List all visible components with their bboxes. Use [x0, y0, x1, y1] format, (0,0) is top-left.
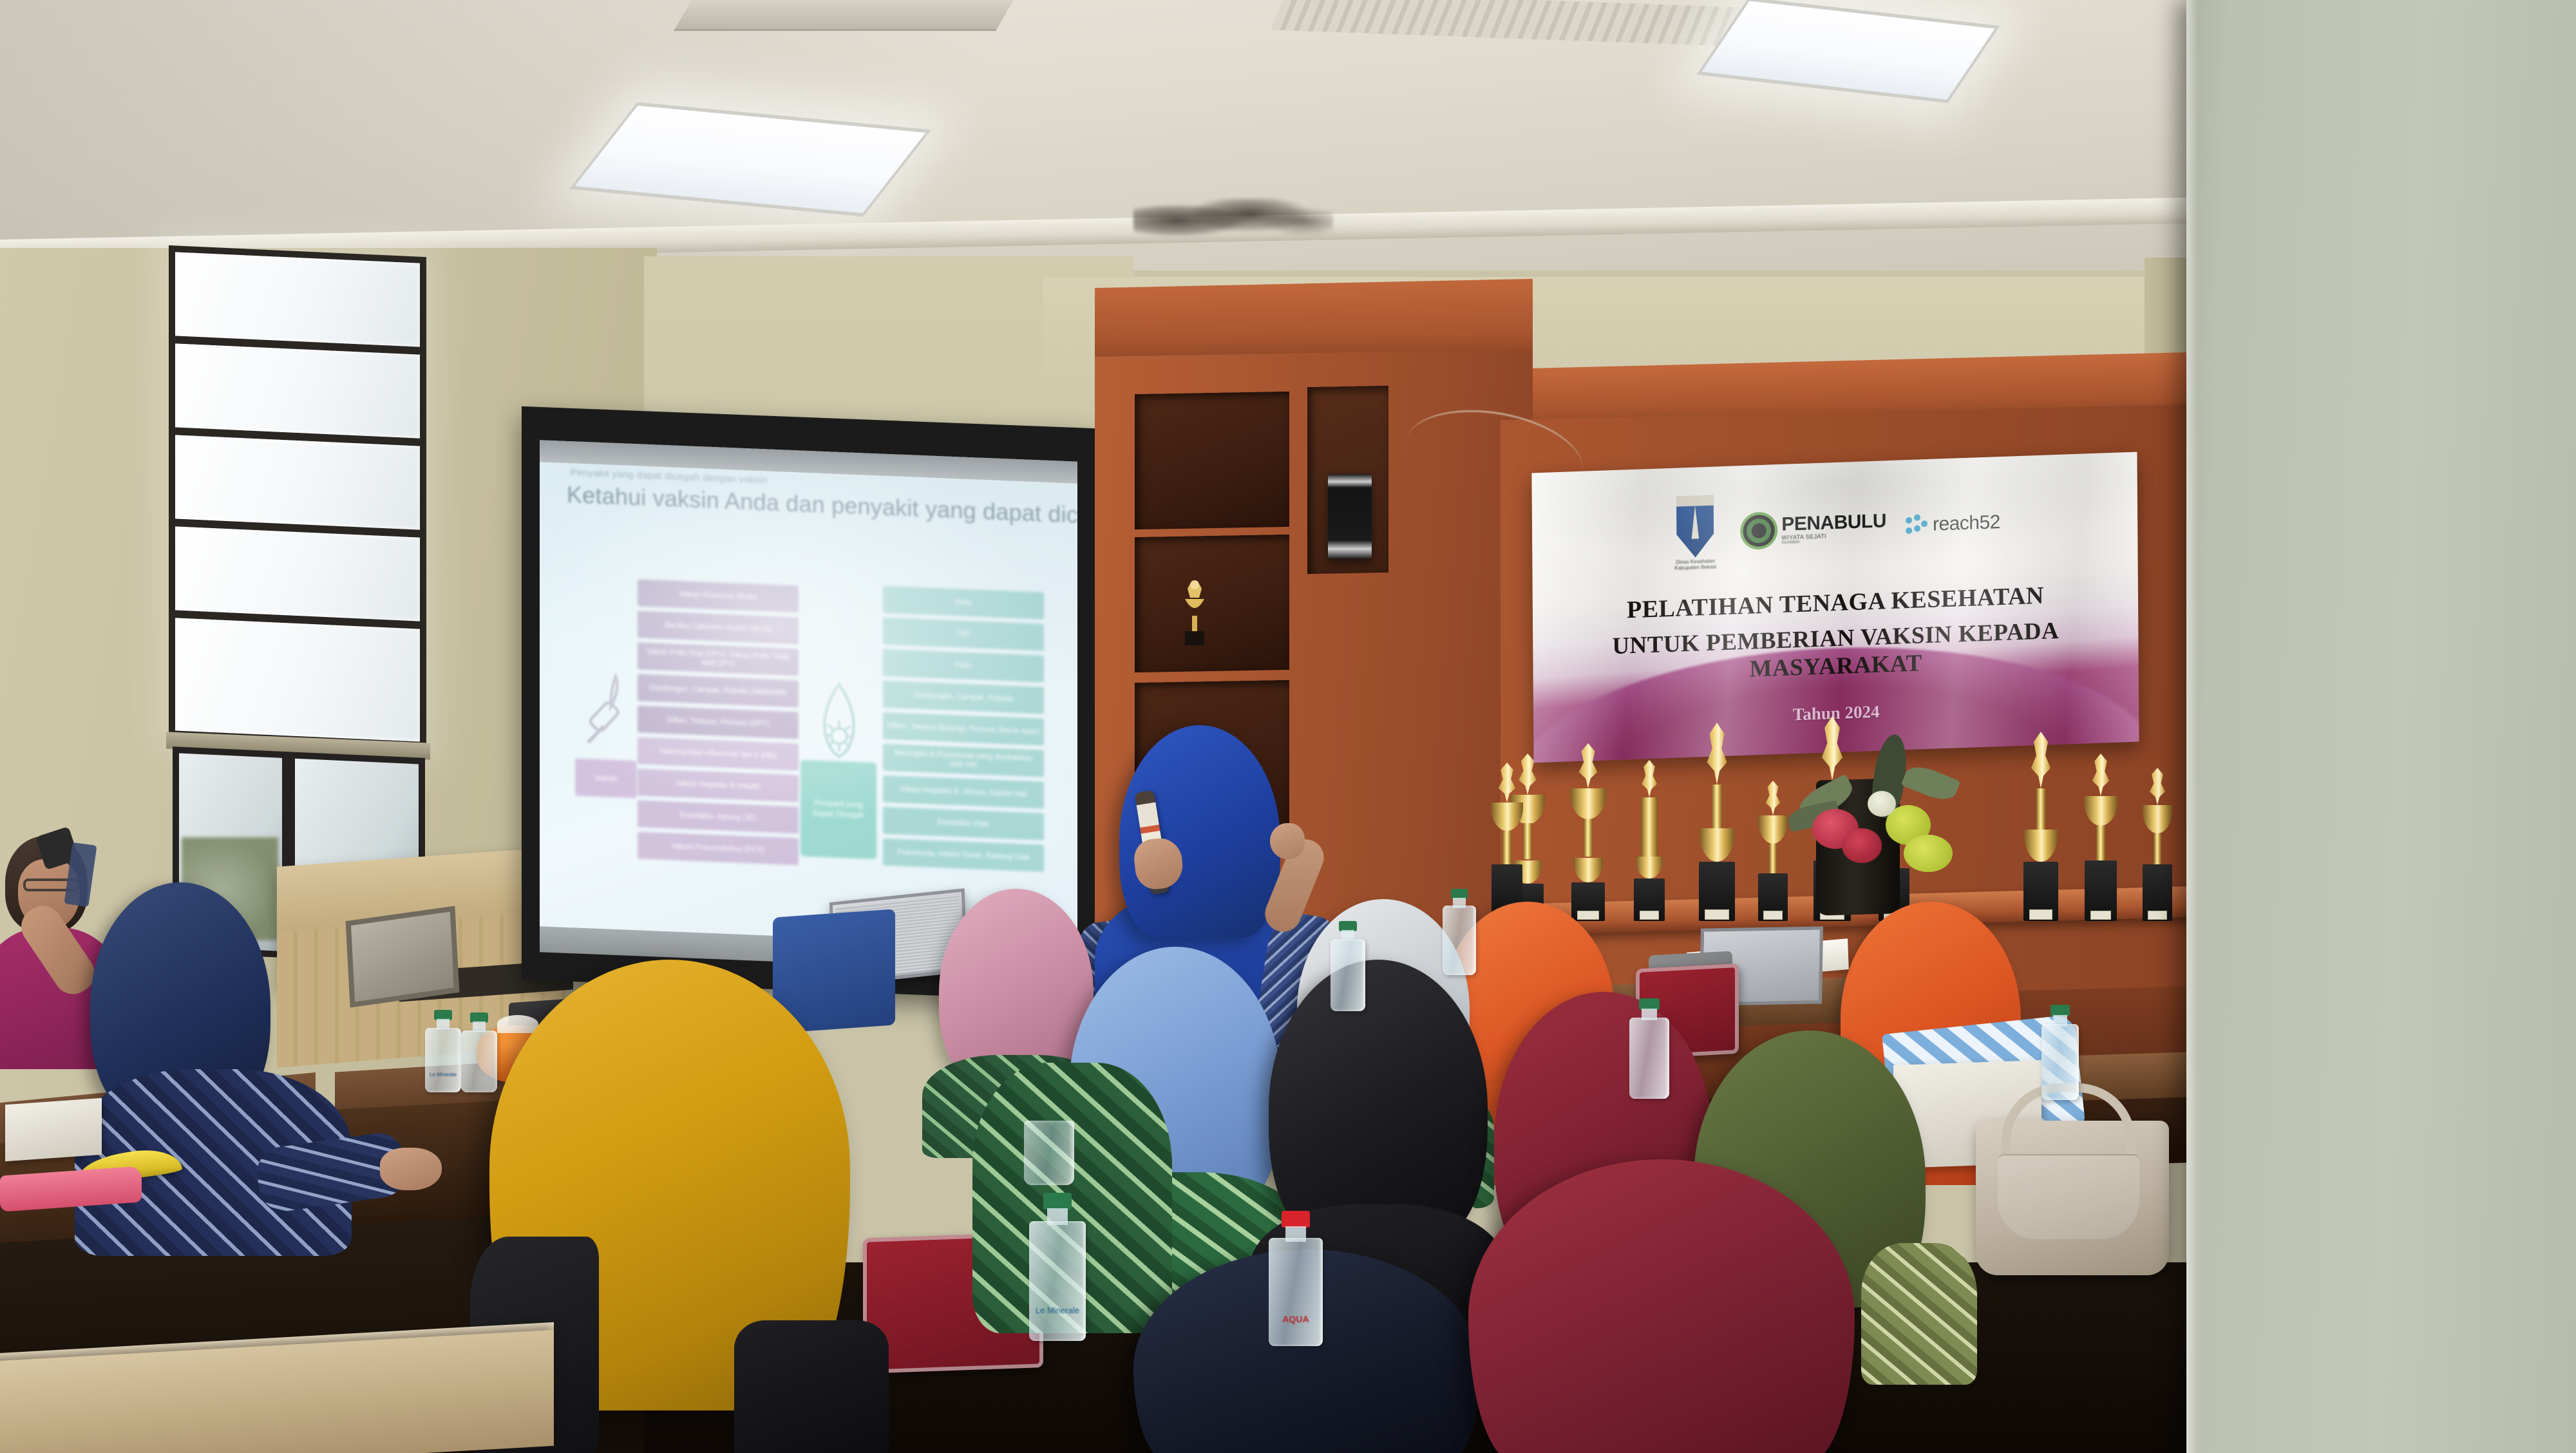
- garment-dark: [734, 1320, 889, 1453]
- hand: [380, 1148, 442, 1190]
- hijab: [1468, 1159, 1855, 1453]
- slide-disease-row: Difteri, Tetanus (kejang), Pertusis (bat…: [883, 712, 1044, 746]
- photograph-scene: Penyakit yang dapat dicegah dengan vaksi…: [0, 0, 2576, 1453]
- ceiling-water-stain-mold: [1133, 198, 1333, 238]
- ceiling-vent-left: [674, 0, 1014, 31]
- reach52-dots-icon: [1906, 514, 1927, 537]
- water-bottle[interactable]: [1331, 921, 1365, 1011]
- penabulu-mark-icon: [1740, 511, 1777, 550]
- slide-disease-row: Polio: [883, 649, 1044, 683]
- small-gold-trophy: [1177, 569, 1212, 653]
- slide-column-label-disease: Penyakit yang Dapat Dicegah: [800, 759, 876, 859]
- slide-disease-row: Ensefalitis Otak: [883, 807, 1044, 840]
- slide-vaccine-column: Vaksin Rotavirus (Rota) Bacillus Calmett…: [638, 579, 799, 865]
- reach52-wordmark: reach52: [1933, 511, 2000, 536]
- slide-vaccine-row: Vaksin Hepatitis B (HepB): [638, 768, 799, 802]
- slide-vaccine-row: Haemophilus influenzae tipe b (Hib): [638, 737, 799, 770]
- penabulu-logo: PENABULU WIYATA SEJATI foundation: [1740, 508, 1886, 550]
- slide-disease-row: Meningitis & Pneumonia yang disebabkan o…: [883, 744, 1044, 777]
- beige-handbag[interactable]: [1976, 1121, 2169, 1275]
- drinking-glass[interactable]: [1024, 1121, 1074, 1185]
- attendee-maroon-hijab: [1443, 1159, 1906, 1453]
- trophy: [1627, 742, 1672, 921]
- slide-disease-row: TBC: [883, 618, 1044, 651]
- room-pillar: [2186, 0, 2576, 1453]
- trophy: [2078, 738, 2124, 921]
- syringe-icon: [575, 670, 637, 756]
- slide-disease-column: Diare TBC Polio Gondongan, Campak, Rubel…: [883, 586, 1044, 872]
- slide-vaccine-row: Vaksin Polio Oral (OPV), Vaksin Polio Ti…: [638, 642, 799, 676]
- germ-icon: [813, 679, 865, 772]
- flower-arrangement: [1777, 708, 1964, 876]
- slide-disease-row: Pneumonia, Infeksi Darah, Radang Otak: [883, 839, 1044, 872]
- slide-vaccine-row: Gondongan, Campak, Rubella (MMR/MR): [638, 674, 799, 707]
- slide-vaccine-row: Bacillus Calmette–Guérin (BCG): [638, 611, 799, 644]
- presenter-raised-hand: [1270, 823, 1305, 859]
- slide-vaccine-row: Difteri, Tetanus, Pertusis (DPT): [638, 705, 799, 739]
- trophy: [2136, 752, 2179, 921]
- wall-sconce-dark: [1328, 474, 1372, 559]
- trophy: [1564, 728, 1613, 921]
- bottle-brand-label: AQUA: [1269, 1315, 1323, 1324]
- trophy: [2016, 721, 2066, 921]
- water-bottle[interactable]: AQUA: [1269, 1211, 1323, 1346]
- trophy: [1479, 747, 1537, 921]
- water-bottle[interactable]: Le Minerale: [1029, 1193, 1086, 1341]
- slide-title: Ketahui vaksin Anda dan penyakit yang da…: [567, 481, 1056, 528]
- government-crest-logo: [1676, 495, 1714, 558]
- slide-disease-row: Infeksi Hepatitis B, Sirosis, Kanker hat…: [883, 775, 1044, 809]
- government-crest-caption: Dinas Kesehatan Kabupaten Bekasi: [1670, 558, 1721, 571]
- slide-disease-row: Gondongan, Campak, Rubella: [883, 681, 1044, 714]
- water-bottle[interactable]: [1443, 889, 1476, 975]
- tissue-box: [5, 1098, 102, 1161]
- slide-vaccine-row: Vaksin Rotavirus (Rota): [638, 579, 799, 613]
- water-bottle[interactable]: [1629, 998, 1669, 1099]
- window-upper: [169, 245, 426, 753]
- cabinet-niche: [1135, 535, 1289, 672]
- slide-vaccine-row: Vaksin Pneumokokus (PCV): [638, 831, 799, 865]
- pillar-highlight-edge: [2186, 0, 2198, 1453]
- picture-frame: [346, 906, 460, 1008]
- bottle-brand-label: Le Minerale: [1029, 1306, 1086, 1315]
- slide-column-label-vaccine: Vaksin: [575, 758, 637, 798]
- slide-disease-row: Diare: [883, 586, 1044, 620]
- trophy: [1691, 714, 1743, 921]
- banner-logo-row: Dinas Kesehatan Kabupaten Bekasi PENABUL…: [1532, 480, 2138, 576]
- water-bottle[interactable]: [2041, 1005, 2079, 1100]
- reach52-logo: reach52: [1906, 511, 2000, 537]
- cabinet-niche: [1135, 392, 1289, 529]
- slide-vaccine-row: Ensefalitis Jepang (JE): [638, 800, 799, 833]
